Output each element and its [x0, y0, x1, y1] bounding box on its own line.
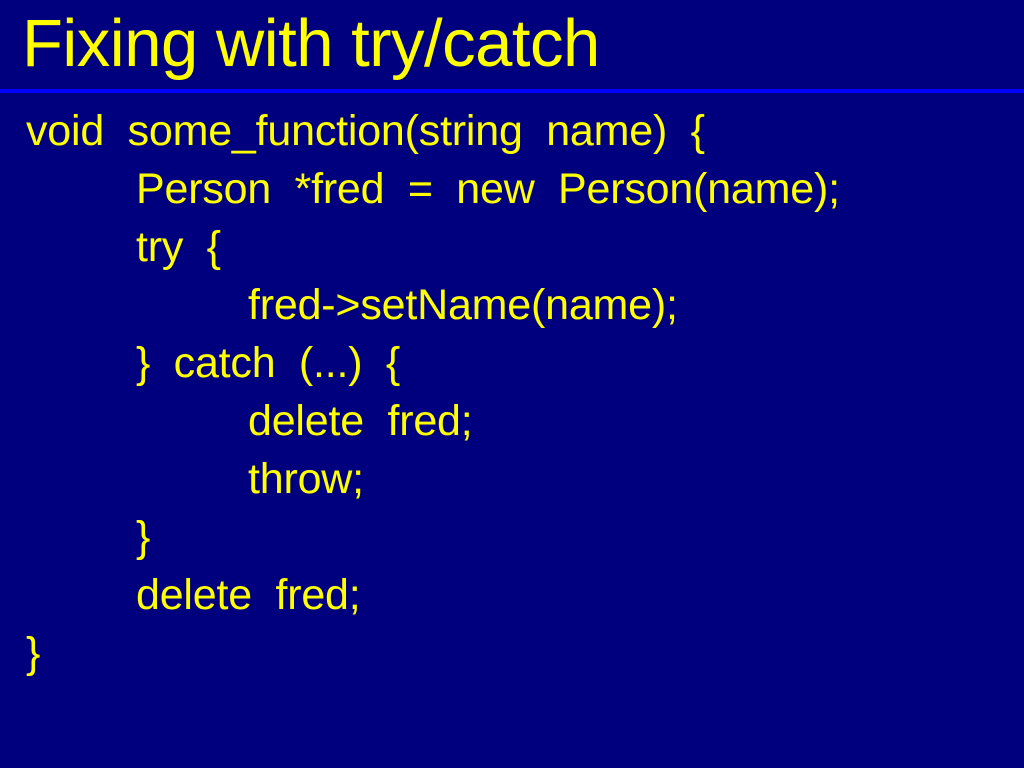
code-line: void some_function(string name) { — [0, 102, 1024, 160]
code-line: } — [0, 624, 1024, 682]
title-separator-rule — [0, 89, 1024, 93]
code-line: throw; — [0, 450, 1024, 508]
slide-title: Fixing with try/catch — [22, 2, 1012, 86]
presentation-slide: Fixing with try/catch void some_function… — [0, 0, 1024, 768]
code-line: delete fred; — [0, 392, 1024, 450]
code-line: } — [0, 508, 1024, 566]
code-line: try { — [0, 218, 1024, 276]
code-block: void some_function(string name) {Person … — [0, 102, 1024, 682]
code-line: fred->setName(name); — [0, 276, 1024, 334]
code-line: Person *fred = new Person(name); — [0, 160, 1024, 218]
code-line: } catch (...) { — [0, 334, 1024, 392]
code-line: delete fred; — [0, 566, 1024, 624]
